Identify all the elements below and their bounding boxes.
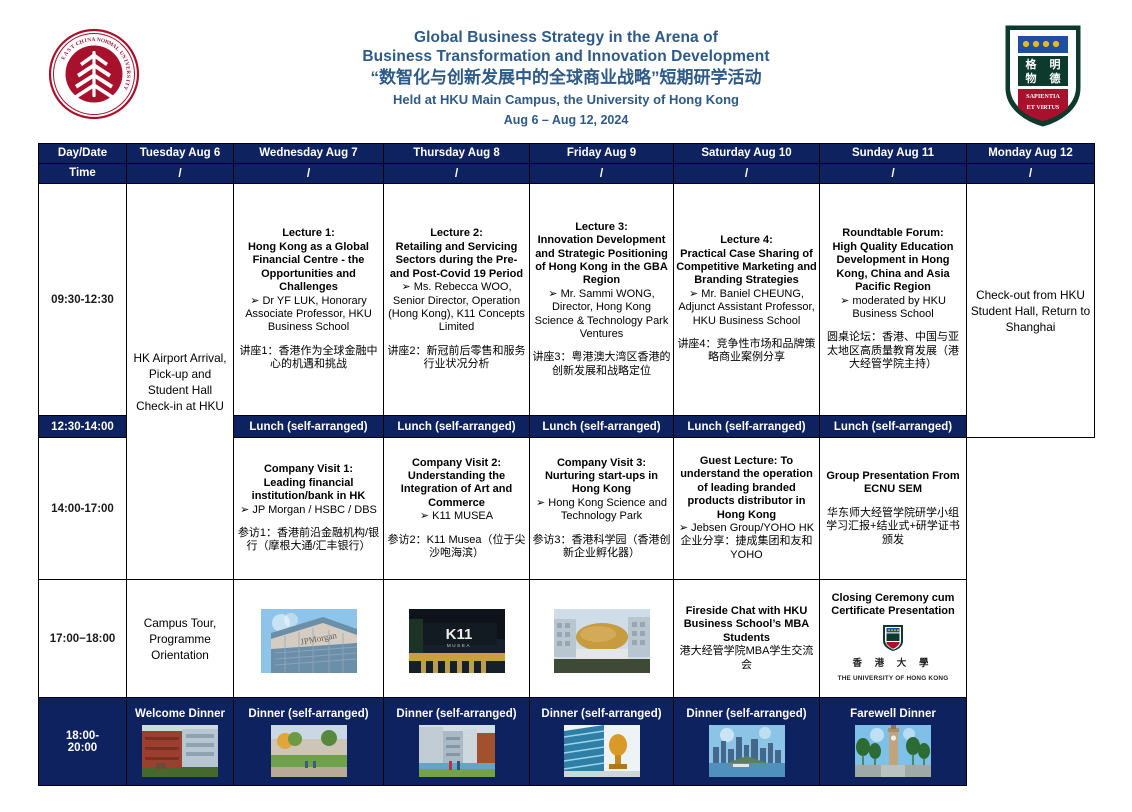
col-header-sun-aug-11: Sunday Aug 11 <box>820 144 967 164</box>
lecture-4-title: Lecture 4: <box>676 234 817 247</box>
hong-kong-harbour-skyline-photo <box>709 725 785 777</box>
cell-thu-dinner: Dinner (self-arranged) <box>384 698 530 786</box>
group-presentation-chinese: 华东师大经管学院研学小组学习汇报+结业式+研学证书颁发 <box>822 507 964 547</box>
col-header-wed-aug-7: Wednesday Aug 7 <box>234 144 384 164</box>
visit-1-detail: ➢ JP Morgan / HSBC / DBS <box>236 504 381 517</box>
time-dinner: 18:00- 20:00 <box>39 698 127 786</box>
visit-2-chinese: 参访2：K11 Musea（位于尖沙咆海滨） <box>386 534 527 561</box>
lecture-2-chinese: 讲座2：新冠前后零售和服务行业状况分析 <box>386 345 527 372</box>
cell-sat-dinner: Dinner (self-arranged) <box>674 698 820 786</box>
time-dinner-line2: 20:00 <box>68 742 97 754</box>
closing-ceremony-title: Closing Ceremony cum Certificate Present… <box>822 592 964 619</box>
visit-1-title: Company Visit 1: <box>236 463 381 476</box>
slash-sat: / <box>674 164 820 184</box>
cell-sun-lunch: Lunch (self-arranged) <box>820 416 967 438</box>
svg-text:ET VIRTUS: ET VIRTUS <box>1027 104 1060 111</box>
row-late-afternoon: 17:00−18:00 Campus Tour, Programme Orien… <box>39 580 1095 698</box>
svg-text:明: 明 <box>1050 58 1061 71</box>
col-header-daydate: Day/Date <box>39 144 127 164</box>
cell-sun-farewell-dinner: Farewell Dinner <box>820 698 967 786</box>
roundtable-subtitle: High Quality Education Development in Ho… <box>822 241 964 295</box>
col-header-tue-aug-6: Tuesday Aug 6 <box>127 144 234 164</box>
time-lunch: 12:30-14:00 <box>39 416 127 438</box>
venue-line: Held at HKU Main Campus, the University … <box>362 90 769 109</box>
time-late-afternoon: 17:00−18:00 <box>39 580 127 698</box>
cell-fri-dinner: Dinner (self-arranged) <box>530 698 674 786</box>
svg-text:A: A <box>91 37 95 43</box>
document-header: E A S T C H I N A N O R M A L U N I V E <box>0 0 1132 140</box>
lecture-1-chinese: 讲座1：香港作为全球金融中心的机遇和挑战 <box>236 345 381 372</box>
cell-sat-guest-lecture: Guest Lecture: To understand the operati… <box>674 438 820 580</box>
fireside-chat-title: Fireside Chat with HKU Business School’s… <box>676 605 817 645</box>
col-header-thu-aug-8: Thursday Aug 8 <box>384 144 530 164</box>
cell-sat-fireside-chat: Fireside Chat with HKU Business School’s… <box>674 580 820 698</box>
lecture-1-subtitle: Hong Kong as a Global Financial Centre -… <box>236 241 381 295</box>
col-header-mon-aug-12: Monday Aug 12 <box>967 144 1095 164</box>
svg-text:K11: K11 <box>445 626 472 643</box>
cell-wed-company-visit-1: Company Visit 1: Leading financial insti… <box>234 438 384 580</box>
visit-3-chinese: 参访3：香港科学园（香港创新企业孵化器） <box>532 534 671 561</box>
hk-science-park-golden-egg-photo <box>554 609 650 673</box>
cell-tue-arrival: HK Airport Arrival, Pick-up and Student … <box>127 184 234 580</box>
lecture-3-title: Lecture 3: <box>532 221 671 234</box>
lecture-1-title: Lecture 1: <box>236 227 381 240</box>
cell-fri-lecture-3: Lecture 3: Innovation Development and St… <box>530 184 674 416</box>
table-time-row: Time / / / / / / / <box>39 164 1095 184</box>
roundtable-chinese: 圆桌论坛：香港、中国与亚太地区高质量教育发展（港大经管学院主持） <box>822 331 964 371</box>
visit-1-chinese: 参访1：香港前沿金融机构/银行（摩根大通/汇丰银行） <box>236 527 381 554</box>
thu-dinner-label: Dinner (self-arranged) <box>386 707 527 721</box>
cell-sat-lunch: Lunch (self-arranged) <box>674 416 820 438</box>
glass-building-trophy-photo <box>564 725 640 777</box>
svg-text:德: 德 <box>1049 71 1061 85</box>
cell-sat-lecture-4: Lecture 4: Practical Case Sharing of Com… <box>674 184 820 416</box>
lecture-2-title: Lecture 2: <box>386 227 527 240</box>
table-header-row: Day/Date Tuesday Aug 6 Wednesday Aug 7 T… <box>39 144 1095 164</box>
tsim-sha-tsui-clock-tower-photo <box>855 725 931 777</box>
schedule-table: Day/Date Tuesday Aug 6 Wednesday Aug 7 T… <box>38 143 1095 786</box>
hku-crest-logo <box>880 624 906 652</box>
lecture-2-subtitle: Retailing and Servicing Sectors during t… <box>386 241 527 281</box>
title-line-2: Business Transformation and Innovation D… <box>362 47 769 66</box>
svg-text:物: 物 <box>1026 71 1037 85</box>
slash-tue: / <box>127 164 234 184</box>
cell-tue-campus-tour: Campus Tour, Programme Orientation <box>127 580 234 698</box>
guest-lecture-detail: ➢ Jebsen Group/YOHO HK <box>676 522 817 535</box>
row-morning: 09:30-12:30 HK Airport Arrival, Pick-up … <box>39 184 1095 416</box>
farewell-dinner-label: Farewell Dinner <box>822 707 964 721</box>
roundtable-moderator: ➢ moderated by HKU Business School <box>822 295 964 322</box>
campus-plaza-photo <box>419 725 495 777</box>
fireside-chat-chinese: 港大经管学院MBA学生交流会 <box>676 645 817 672</box>
wed-dinner-label: Dinner (self-arranged) <box>236 707 381 721</box>
visit-2-detail: ➢ K11 MUSEA <box>386 510 527 523</box>
cell-wed-lecture-1: Lecture 1: Hong Kong as a Global Financi… <box>234 184 384 416</box>
row-dinner: 18:00- 20:00 Welcome Dinner Dinner (self… <box>39 698 1095 786</box>
title-chinese: “数智化与创新发展中的全球商业战略”短期研学活动 <box>362 66 769 90</box>
lecture-4-speaker: ➢ Mr. Baniel CHEUNG, Adjunct Assistant P… <box>676 288 817 328</box>
svg-text:SAPIENTIA: SAPIENTIA <box>1026 93 1060 100</box>
lecture-4-subtitle: Practical Case Sharing of Competitive Ma… <box>676 248 817 288</box>
hku-name-chinese: 香 港 大 學 <box>822 657 964 670</box>
fri-dinner-label: Dinner (self-arranged) <box>532 707 671 721</box>
visit-2-title: Company Visit 2: <box>386 457 527 470</box>
east-china-normal-university-logo: E A S T C H I N A N O R M A L U N I V E <box>38 22 150 126</box>
cell-mon-checkout: Check-out from HKU Student Hall, Return … <box>967 184 1095 438</box>
svg-text:S: S <box>125 75 131 78</box>
cell-wed-dinner: Dinner (self-arranged) <box>234 698 384 786</box>
slash-wed: / <box>234 164 384 184</box>
col-header-sat-aug-10: Saturday Aug 10 <box>674 144 820 164</box>
cell-tue-welcome-dinner: Welcome Dinner <box>127 698 234 786</box>
sat-dinner-label: Dinner (self-arranged) <box>676 707 817 721</box>
jp-morgan-building-photo: JPMorgan <box>261 609 357 673</box>
date-range: Aug 6 – Aug 12, 2024 <box>362 109 769 130</box>
university-of-hong-kong-logo: 格 明 物 德 SAPIENTIA ET VIRTUS <box>992 20 1094 128</box>
lecture-3-subtitle: Innovation Development and Strategic Pos… <box>532 234 671 288</box>
cell-fri-science-park-photo <box>530 580 674 698</box>
row-header-time: Time <box>39 164 127 184</box>
cell-fri-lunch: Lunch (self-arranged) <box>530 416 674 438</box>
cell-sun-group-presentation: Group Presentation From ECNU SEM 华东师大经管学… <box>820 438 967 580</box>
guest-lecture-title: Guest Lecture: To understand the operati… <box>676 455 817 522</box>
campus-green-photo <box>271 725 347 777</box>
title-block: Global Business Strategy in the Arena of… <box>362 0 769 130</box>
lecture-3-chinese: 讲座3：粤港澳大湾区香港的创新发展和战略定位 <box>532 351 671 378</box>
cell-wed-lunch: Lunch (self-arranged) <box>234 416 384 438</box>
visit-3-detail: ➢ Hong Kong Science and Technology Park <box>532 497 671 524</box>
slash-fri: / <box>530 164 674 184</box>
lecture-2-speaker: ➢ Ms. Rebecca WOO, Senior Director, Oper… <box>386 281 527 335</box>
cell-thu-company-visit-2: Company Visit 2: Understanding the Integ… <box>384 438 530 580</box>
time-morning: 09:30-12:30 <box>39 184 127 416</box>
visit-3-title: Company Visit 3: <box>532 457 671 470</box>
time-afternoon: 14:00-17:00 <box>39 438 127 580</box>
lecture-3-speaker: ➢ Mr. Sammi WONG, Director, Hong Kong Sc… <box>532 288 671 342</box>
title-line-1: Global Business Strategy in the Arena of <box>362 28 769 47</box>
cell-sun-closing-ceremony: Closing Ceremony cum Certificate Present… <box>820 580 967 698</box>
col-header-fri-aug-9: Friday Aug 9 <box>530 144 674 164</box>
hku-wordmark: 香 港 大 學 THE UNIVERSITY OF HONG KONG <box>822 624 964 685</box>
visit-3-subtitle: Nurturing start-ups in Hong Kong <box>532 470 671 497</box>
group-presentation-title: Group Presentation From ECNU SEM <box>822 470 964 497</box>
visit-1-subtitle: Leading financial institution/bank in HK <box>236 477 381 504</box>
time-dinner-line1: 18:00- <box>66 730 99 742</box>
k11-musea-photo: K11 MUSEA <box>409 609 505 673</box>
slash-mon: / <box>967 164 1095 184</box>
visit-2-subtitle: Understanding the Integration of Art and… <box>386 470 527 510</box>
roundtable-title: Roundtable Forum: <box>822 227 964 240</box>
cell-fri-company-visit-3: Company Visit 3: Nurturing start-ups in … <box>530 438 674 580</box>
ecnu-campus-building-photo <box>142 725 218 777</box>
lecture-1-speaker: ➢ Dr YF LUK, Honorary Associate Professo… <box>236 295 381 335</box>
cell-thu-lunch: Lunch (self-arranged) <box>384 416 530 438</box>
welcome-dinner-label: Welcome Dinner <box>129 707 231 721</box>
svg-text:MUSEA: MUSEA <box>446 643 470 648</box>
cell-thu-k11-photo: K11 MUSEA <box>384 580 530 698</box>
slash-thu: / <box>384 164 530 184</box>
hku-name-english: THE UNIVERSITY OF HONG KONG <box>822 672 964 685</box>
cell-wed-jp-morgan-photo: JPMorgan <box>234 580 384 698</box>
svg-text:格: 格 <box>1026 57 1038 71</box>
guest-lecture-chinese: 企业分享：捷成集团和友和YOHO <box>676 535 817 562</box>
cell-sun-roundtable-forum: Roundtable Forum: High Quality Education… <box>820 184 967 416</box>
lecture-4-chinese: 讲座4：竞争性市场和品牌策略商业案例分享 <box>676 338 817 365</box>
slash-sun: / <box>820 164 967 184</box>
cell-thu-lecture-2: Lecture 2: Retailing and Servicing Secto… <box>384 184 530 416</box>
